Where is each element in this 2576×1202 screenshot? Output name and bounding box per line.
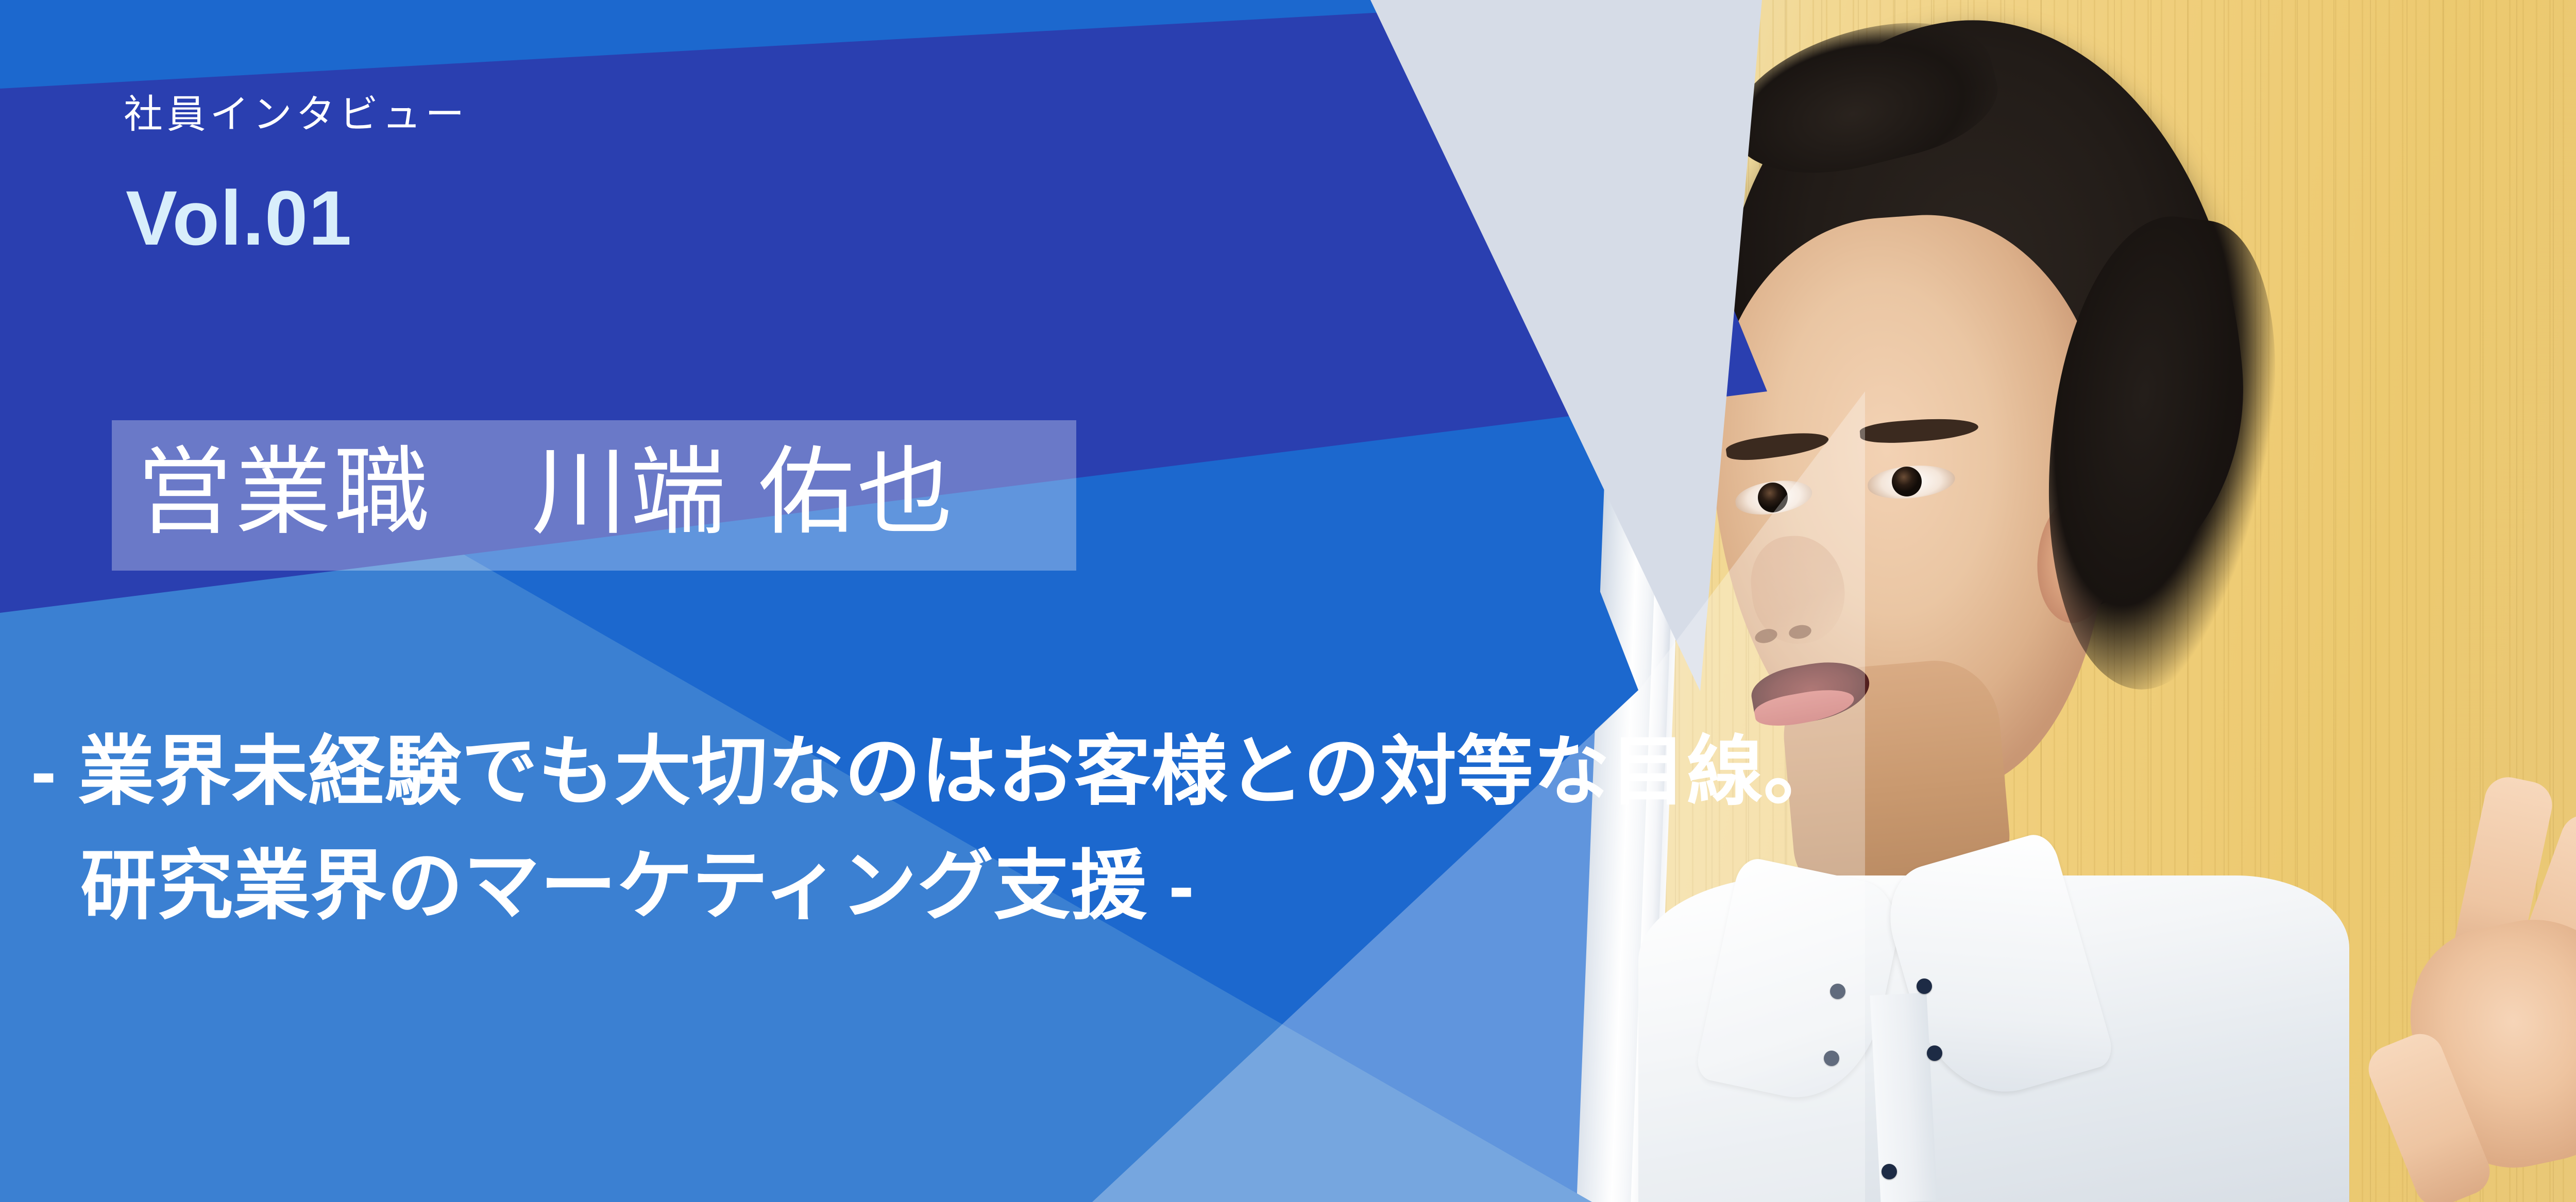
shirt-button [1927,1045,1942,1061]
name-badge-label: 営業職 川端 佑也 [137,432,956,554]
kicker-label: 社員インタビュー [124,95,468,134]
volume-label: Vol.01 [126,179,352,256]
headline-line-2: 研究業界のマーケティング支援 - [31,829,1840,943]
headline-line-1: - 業界未経験でも大切なのはお客様との対等な目線。 [31,729,1840,814]
shirt-button [1824,1051,1839,1066]
interview-hero-banner: 社員インタビュー Vol.01 営業職 川端 佑也 - 業界未経験でも大切なのは… [0,0,2576,1202]
shirt-placket [1870,992,1938,1202]
shirt-button [1917,978,1932,994]
shirt-button [1830,984,1845,999]
shirt-button [1882,1164,1897,1179]
pupil-left [1758,483,1788,512]
headline: - 業界未経験でも大切なのはお客様との対等な目線。 研究業界のマーケティング支援… [31,715,1840,943]
pupil-right [1892,467,1922,496]
